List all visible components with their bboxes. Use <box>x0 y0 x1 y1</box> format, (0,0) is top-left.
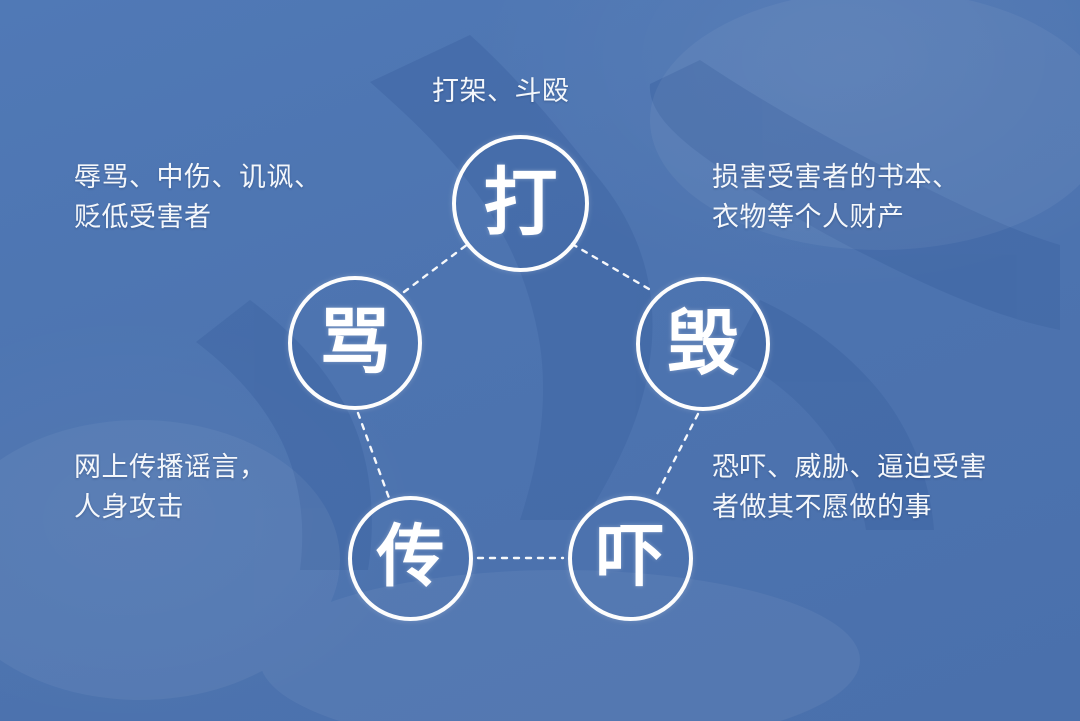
caption-top: 打架、斗殴 <box>432 72 570 112</box>
node-glyph-hui: 毁 <box>667 307 739 379</box>
caption-bottom-right: 恐吓、威胁、逼迫受害 者做其不愿做的事 <box>712 448 987 528</box>
node-circle-hui[interactable]: 毁 <box>636 277 770 411</box>
caption-top-left: 辱骂、中伤、讥讽、 贬低受害者 <box>74 158 322 238</box>
connector-ma-chuan <box>358 413 389 498</box>
node-circle-chuan[interactable]: 传 <box>348 496 473 621</box>
connector-da-hui <box>572 244 654 292</box>
caption-top-right: 损害受害者的书本、 衣物等个人财产 <box>712 158 960 238</box>
node-glyph-da: 打 <box>484 166 558 240</box>
connector-hui-xia <box>655 414 698 498</box>
node-glyph-xia: 吓 <box>596 524 664 592</box>
node-circle-xia[interactable]: 吓 <box>568 496 693 621</box>
caption-bottom-left: 网上传播谣言， 人身攻击 <box>74 448 267 528</box>
node-circle-ma[interactable]: 骂 <box>288 276 422 410</box>
node-glyph-ma: 骂 <box>319 306 391 378</box>
infographic-canvas: 打 骂 毁 传 吓 打架、斗殴 辱骂、中伤、讥讽、 贬低受害者 损害受害者的书本… <box>0 0 1080 721</box>
node-circle-da[interactable]: 打 <box>452 135 589 272</box>
node-glyph-chuan: 传 <box>376 524 444 592</box>
connector-ma-da <box>404 244 468 292</box>
